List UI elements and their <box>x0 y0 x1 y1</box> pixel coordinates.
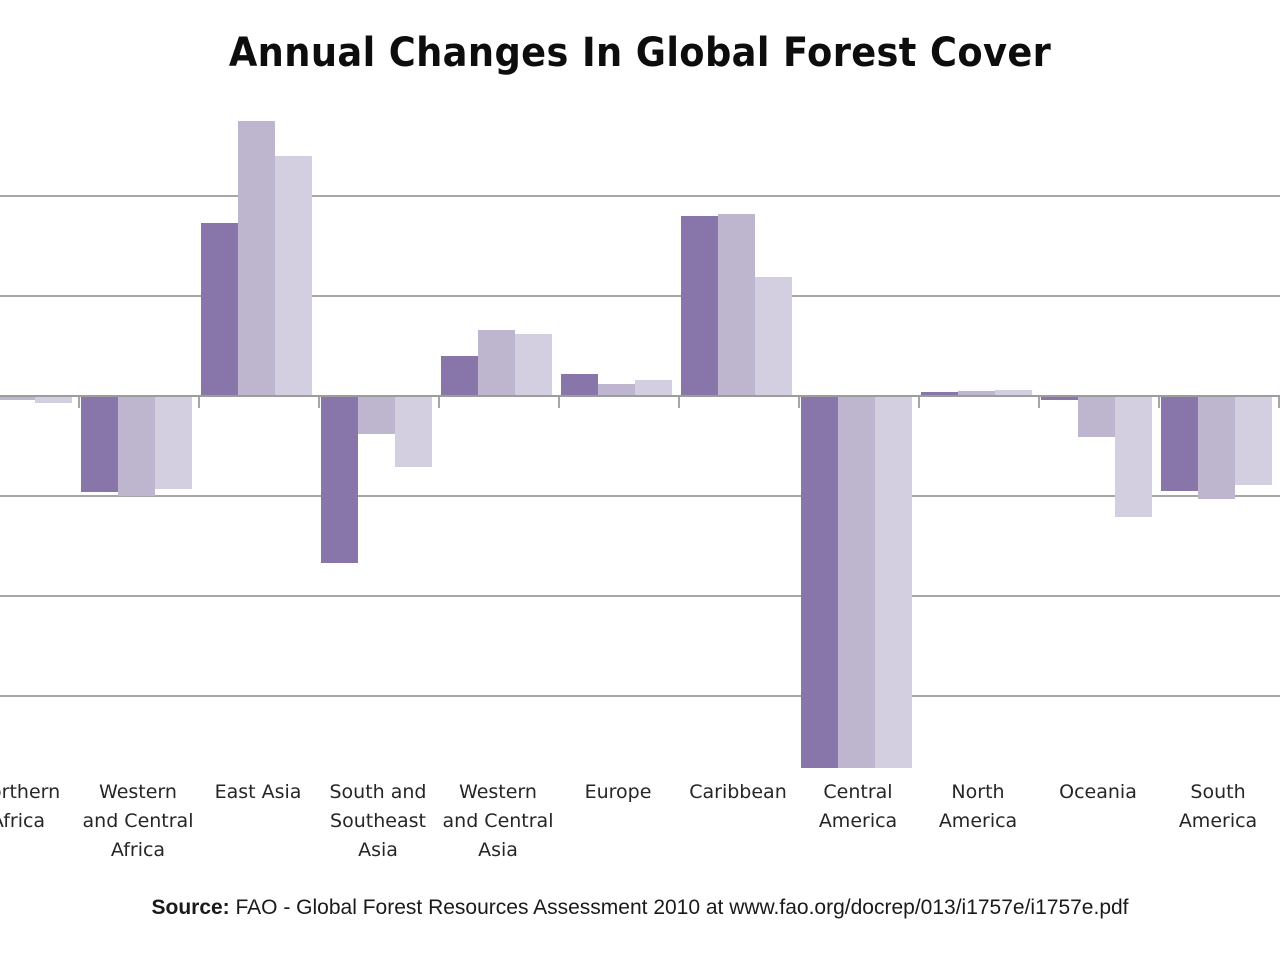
bar-8-1 <box>801 395 838 768</box>
bar-10-3 <box>1115 395 1152 517</box>
bar-5-2 <box>478 330 515 395</box>
source-text: FAO - Global Forest Resources Assessment… <box>230 896 1129 919</box>
axis-tick-6 <box>678 397 680 408</box>
bar-4-1 <box>321 395 358 563</box>
bar-10-2 <box>1078 395 1115 437</box>
bar-11-3 <box>1235 395 1272 485</box>
category-label-1: Northern Africa <box>0 778 78 836</box>
category-axis: Northern AfricaWestern and Central Afric… <box>0 770 1280 880</box>
bar-5-3 <box>515 334 552 395</box>
bar-7-3 <box>755 277 792 395</box>
bar-5-1 <box>441 356 478 395</box>
bar-6-3 <box>635 380 672 395</box>
axis-tick-4 <box>438 397 440 408</box>
source-note: Source: FAO - Global Forest Resources As… <box>0 893 1280 923</box>
axis-tick-8 <box>918 397 920 408</box>
category-label-2: Western and Central Africa <box>78 778 198 865</box>
bar-11-1 <box>1161 395 1198 491</box>
bar-6-2 <box>598 384 635 395</box>
bar-8-2 <box>838 395 875 768</box>
bar-8-3 <box>875 395 912 768</box>
bar-3-2 <box>238 121 275 395</box>
category-label-5: Western and Central Asia <box>438 778 558 865</box>
bar-4-2 <box>358 395 395 434</box>
axis-tick-3 <box>318 397 320 408</box>
axis-tick-5 <box>558 397 560 408</box>
bar-6-1 <box>561 374 598 395</box>
category-label-9: North America <box>918 778 1038 836</box>
bar-2-1 <box>81 395 118 492</box>
bar-11-2 <box>1198 395 1235 499</box>
bar-2-3 <box>155 395 192 489</box>
category-label-8: Central America <box>798 778 918 836</box>
bar-4-3 <box>395 395 432 467</box>
axis-tick-10 <box>1158 397 1160 408</box>
bar-2-2 <box>118 395 155 496</box>
axis-tick-9 <box>1038 397 1040 408</box>
category-label-4: South and Southeast Asia <box>318 778 438 865</box>
category-label-3: East Asia <box>198 778 318 807</box>
plot-area <box>0 112 1280 768</box>
bar-3-3 <box>275 156 312 395</box>
source-label: Source: <box>151 896 229 919</box>
zero-axis-line <box>0 395 1280 397</box>
bar-7-2 <box>718 214 755 395</box>
axis-tick-1 <box>78 397 80 408</box>
category-label-10: Oceania <box>1038 778 1158 807</box>
bar-3-1 <box>201 223 238 395</box>
category-label-11: South America <box>1158 778 1278 836</box>
page-title: Annual Changes In Global Forest Cover <box>51 28 1229 78</box>
bar-7-1 <box>681 216 718 395</box>
axis-tick-7 <box>798 397 800 408</box>
bars-group <box>0 112 1280 768</box>
category-label-7: Caribbean <box>678 778 798 807</box>
chart-page: Annual Changes In Global Forest Cover No… <box>0 0 1280 960</box>
axis-tick-2 <box>198 397 200 408</box>
category-label-6: Europe <box>558 778 678 807</box>
